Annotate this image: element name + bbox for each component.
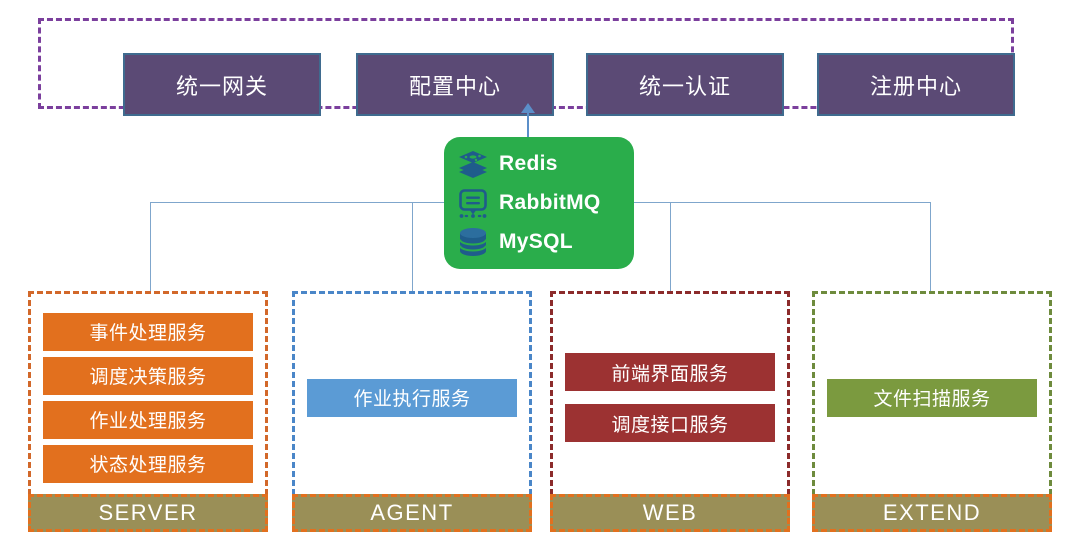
service-label: 状态处理服务 [89, 450, 206, 477]
column-extend-services: 文件扫描服务 [815, 294, 1049, 501]
rabbitmq-message-icon [456, 186, 490, 220]
footer-label-agent: AGENT [292, 494, 532, 532]
redis-stack-icon [456, 147, 490, 181]
infra-item-rabbitmq[interactable]: RabbitMQ [456, 184, 634, 222]
connector-drop-extend [930, 202, 931, 294]
service-job-processing[interactable]: 作业处理服务 [43, 401, 253, 439]
footer-label-extend: EXTEND [812, 494, 1052, 532]
footer-label-text: EXTEND [883, 500, 981, 526]
platform-box-label: 统一认证 [639, 69, 731, 101]
service-job-execution[interactable]: 作业执行服务 [307, 379, 517, 417]
service-event-processing[interactable]: 事件处理服务 [43, 313, 253, 351]
service-file-scan[interactable]: 文件扫描服务 [827, 379, 1037, 417]
connector-drop-server [150, 202, 151, 294]
connector-drop-web [670, 202, 671, 294]
platform-band-container: 统一网关 配置中心 统一认证 注册中心 [38, 18, 1014, 109]
infrastructure-box: Redis RabbitMQ [444, 137, 634, 269]
infra-item-label: Redis [499, 152, 558, 176]
column-server-services: 事件处理服务 调度决策服务 作业处理服务 状态处理服务 [31, 294, 265, 501]
footer-label-text: WEB [643, 500, 698, 526]
platform-box-label: 配置中心 [409, 69, 501, 101]
platform-box-auth[interactable]: 统一认证 [586, 53, 784, 116]
column-server: 事件处理服务 调度决策服务 作业处理服务 状态处理服务 [28, 291, 268, 504]
footer-label-text: AGENT [370, 500, 453, 526]
infra-item-label: MySQL [499, 230, 573, 254]
footer-label-web: WEB [550, 494, 790, 532]
service-label: 调度接口服务 [611, 410, 728, 437]
column-agent: 作业执行服务 [292, 291, 532, 504]
service-label: 前端界面服务 [611, 359, 728, 386]
platform-box-label: 统一网关 [176, 69, 268, 101]
service-label: 调度决策服务 [89, 362, 206, 389]
service-label: 文件扫描服务 [873, 384, 990, 411]
arrow-up-icon [521, 103, 535, 113]
service-frontend-ui[interactable]: 前端界面服务 [565, 353, 775, 391]
infra-item-label: RabbitMQ [499, 191, 601, 215]
infra-item-redis[interactable]: Redis [456, 145, 634, 183]
connector-drop-agent [412, 202, 413, 294]
connector-bus-right-stub [634, 202, 636, 203]
mysql-database-icon [456, 225, 490, 259]
column-extend: 文件扫描服务 [812, 291, 1052, 504]
connector-infra-to-platform [527, 109, 529, 139]
footer-label-server: SERVER [28, 494, 268, 532]
platform-box-registry[interactable]: 注册中心 [817, 53, 1015, 116]
platform-box-label: 注册中心 [870, 69, 962, 101]
infra-item-mysql[interactable]: MySQL [456, 223, 634, 261]
service-scheduling-decision[interactable]: 调度决策服务 [43, 357, 253, 395]
architecture-diagram: 统一网关 配置中心 统一认证 注册中心 [0, 0, 1080, 545]
column-web-services: 前端界面服务 调度接口服务 [553, 294, 787, 501]
service-state-processing[interactable]: 状态处理服务 [43, 445, 253, 483]
service-label: 作业执行服务 [353, 384, 470, 411]
footer-label-text: SERVER [98, 500, 197, 526]
platform-box-gateway[interactable]: 统一网关 [123, 53, 321, 116]
service-label: 事件处理服务 [89, 318, 206, 345]
column-web: 前端界面服务 调度接口服务 [550, 291, 790, 504]
service-label: 作业处理服务 [89, 406, 206, 433]
column-agent-services: 作业执行服务 [295, 294, 529, 501]
service-scheduling-api[interactable]: 调度接口服务 [565, 404, 775, 442]
